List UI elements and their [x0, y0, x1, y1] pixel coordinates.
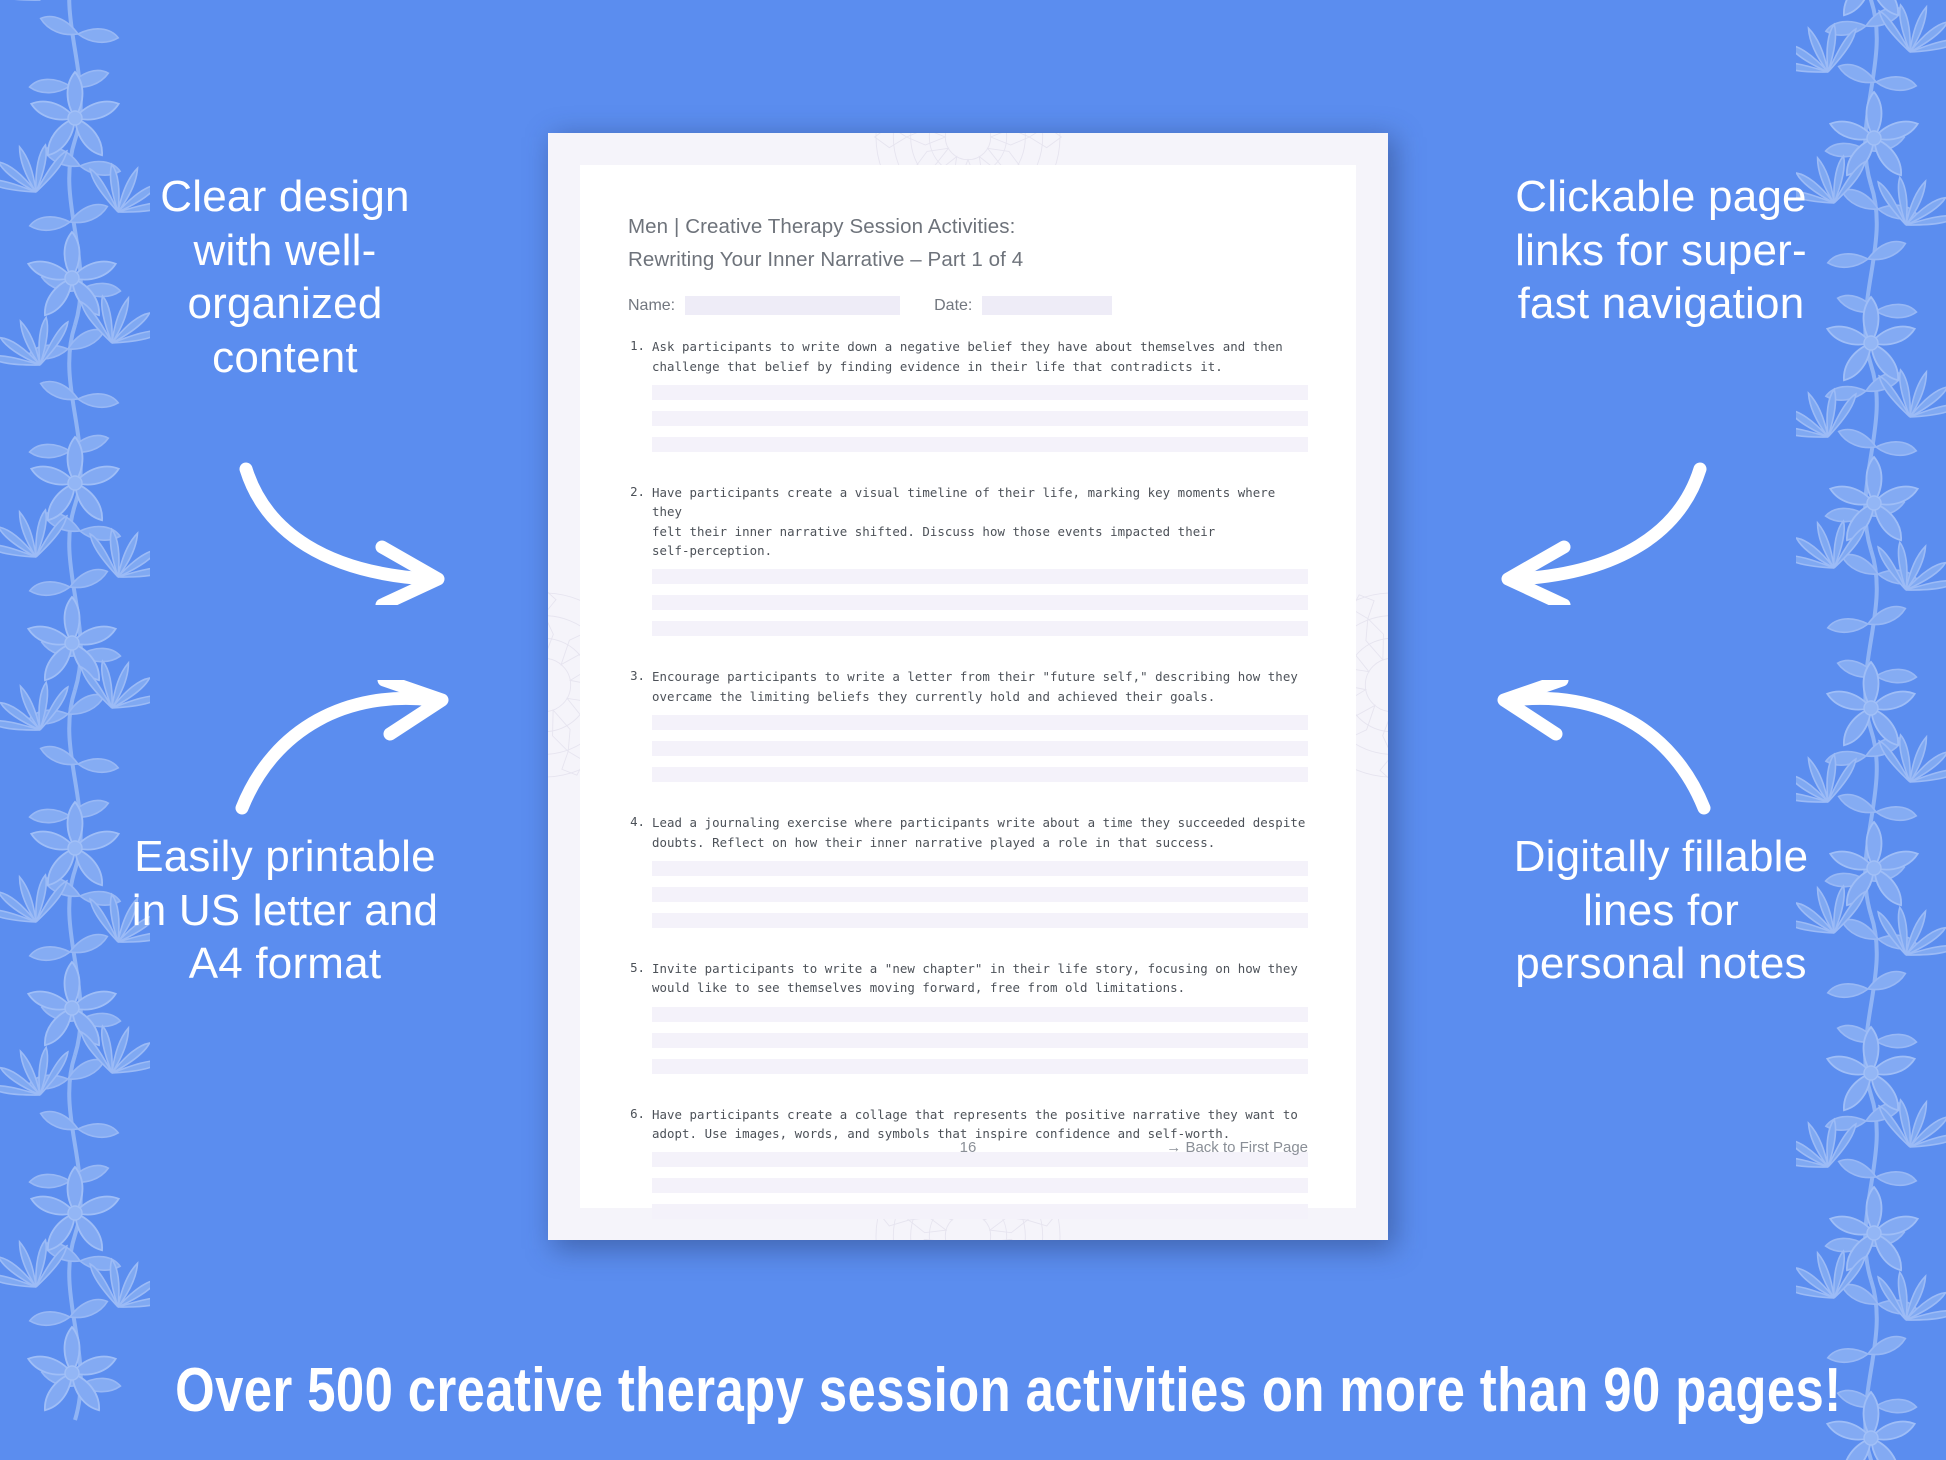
- bottom-banner: Over 500 creative therapy session activi…: [175, 1355, 1771, 1426]
- page-number: 16: [960, 1139, 977, 1156]
- writing-line[interactable]: [652, 861, 1308, 876]
- writing-line[interactable]: [652, 887, 1308, 902]
- writing-line[interactable]: [652, 437, 1308, 452]
- writing-line[interactable]: [652, 1007, 1308, 1022]
- activity-item: 4.Lead a journaling exercise where parti…: [628, 813, 1308, 939]
- activity-text: Lead a journaling exercise where partici…: [652, 813, 1308, 852]
- worksheet-meta-row: Name: Date:: [628, 296, 1308, 315]
- name-input[interactable]: [685, 296, 900, 315]
- writing-line[interactable]: [652, 1178, 1308, 1193]
- writing-line[interactable]: [652, 621, 1308, 636]
- activity-number: 5.: [628, 959, 652, 1085]
- writing-lines: [652, 385, 1308, 452]
- writing-lines: [652, 1007, 1308, 1074]
- activity-item: 2.Have participants create a visual time…: [628, 483, 1308, 647]
- writing-line[interactable]: [652, 569, 1308, 584]
- back-to-first-page-link[interactable]: → Back to First Page: [1166, 1139, 1308, 1156]
- caption-clear-design: Clear design with well-organized content: [120, 170, 450, 385]
- activity-body: Lead a journaling exercise where partici…: [652, 813, 1308, 939]
- activity-text: Invite participants to write a "new chap…: [652, 959, 1308, 998]
- worksheet-header: Men | Creative Therapy Session Activitie…: [580, 165, 1356, 315]
- curved-arrow-up-left-icon: [1474, 680, 1714, 820]
- activity-item: 6.Have participants create a collage tha…: [628, 1105, 1308, 1231]
- caption-easily-printable: Easily printable in US letter and A4 for…: [120, 830, 450, 991]
- writing-line[interactable]: [652, 1059, 1308, 1074]
- activity-item: 3.Encourage participants to write a lett…: [628, 667, 1308, 793]
- activity-list: 1.Ask participants to write down a negat…: [580, 315, 1356, 1230]
- worksheet-sheet: Men | Creative Therapy Session Activitie…: [580, 165, 1356, 1208]
- date-label: Date:: [934, 297, 972, 315]
- writing-lines: [652, 861, 1308, 928]
- activity-body: Ask participants to write down a negativ…: [652, 337, 1308, 463]
- caption-fillable-lines: Digitally fillable lines for personal no…: [1496, 830, 1826, 991]
- writing-line[interactable]: [652, 913, 1308, 928]
- activity-text: Ask participants to write down a negativ…: [652, 337, 1308, 376]
- curved-arrow-down-left-icon: [1474, 455, 1714, 605]
- worksheet-title-line-2: Rewriting Your Inner Narrative – Part 1 …: [628, 243, 1308, 276]
- writing-line[interactable]: [652, 1204, 1308, 1219]
- writing-line[interactable]: [652, 767, 1308, 782]
- activity-body: Have participants create a visual timeli…: [652, 483, 1308, 647]
- worksheet-title-line-1: Men | Creative Therapy Session Activitie…: [628, 210, 1308, 243]
- writing-line[interactable]: [652, 385, 1308, 400]
- activity-text: Have participants create a collage that …: [652, 1105, 1308, 1144]
- writing-line[interactable]: [652, 1033, 1308, 1048]
- activity-body: Invite participants to write a "new chap…: [652, 959, 1308, 1085]
- writing-lines: [652, 715, 1308, 782]
- activity-number: 1.: [628, 337, 652, 463]
- writing-line[interactable]: [652, 595, 1308, 610]
- activity-item: 1.Ask participants to write down a negat…: [628, 337, 1308, 463]
- caption-clickable-links: Clickable page links for super-fast navi…: [1496, 170, 1826, 331]
- activity-body: Encourage participants to write a letter…: [652, 667, 1308, 793]
- worksheet-page[interactable]: Men | Creative Therapy Session Activitie…: [548, 133, 1388, 1240]
- activity-body: Have participants create a collage that …: [652, 1105, 1308, 1231]
- activity-number: 6.: [628, 1105, 652, 1231]
- curved-arrow-up-right-icon: [232, 680, 472, 820]
- date-input[interactable]: [982, 296, 1112, 315]
- activity-number: 2.: [628, 483, 652, 647]
- writing-lines: [652, 1152, 1308, 1219]
- activity-text: Have participants create a visual timeli…: [652, 483, 1308, 560]
- activity-item: 5.Invite participants to write a "new ch…: [628, 959, 1308, 1085]
- curved-arrow-down-right-icon: [232, 455, 472, 605]
- activity-number: 4.: [628, 813, 652, 939]
- activity-number: 3.: [628, 667, 652, 793]
- writing-lines: [652, 569, 1308, 636]
- writing-line[interactable]: [652, 715, 1308, 730]
- worksheet-footer: 16 → Back to First Page: [628, 1139, 1308, 1156]
- name-label: Name:: [628, 297, 675, 315]
- writing-line[interactable]: [652, 741, 1308, 756]
- activity-text: Encourage participants to write a letter…: [652, 667, 1308, 706]
- writing-line[interactable]: [652, 411, 1308, 426]
